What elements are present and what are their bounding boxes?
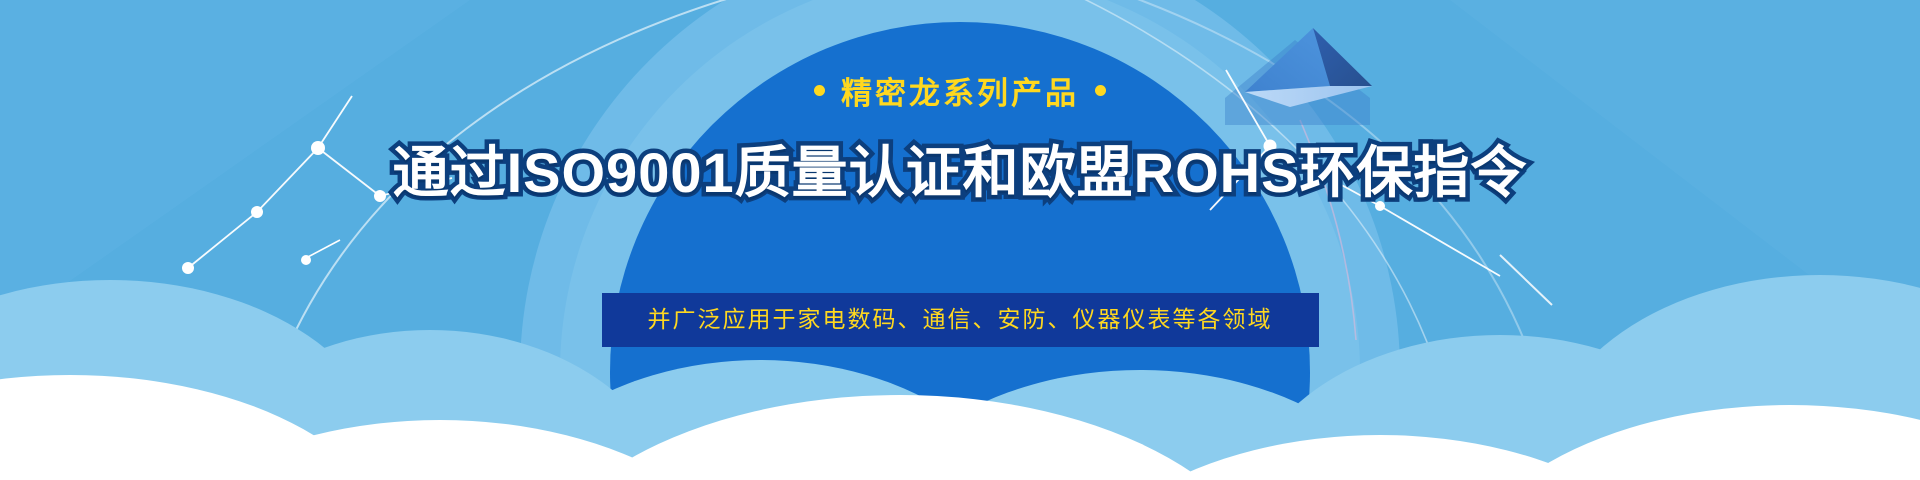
banner-kicker: 精密龙系列产品 [0,76,1920,109]
banner-subbar: 并广泛应用于家电数码、通信、安防、仪器仪表等各领域 [602,293,1319,347]
banner-subbar-wrapper: 并广泛应用于家电数码、通信、安防、仪器仪表等各领域 [0,293,1920,347]
kicker-bullet-left-icon [814,85,825,96]
banner-headline: 通过ISO9001质量认证和欧盟ROHS环保指令 [0,140,1920,206]
banner-background [0,0,1920,480]
network-node [301,255,311,265]
kicker-label: 精密龙系列产品 [841,78,1079,109]
promo-banner: 精密龙系列产品 通过ISO9001质量认证和欧盟ROHS环保指令 并广泛应用于家… [0,0,1920,480]
network-node [182,262,194,274]
network-node [251,206,263,218]
kicker-bullet-right-icon [1095,85,1106,96]
